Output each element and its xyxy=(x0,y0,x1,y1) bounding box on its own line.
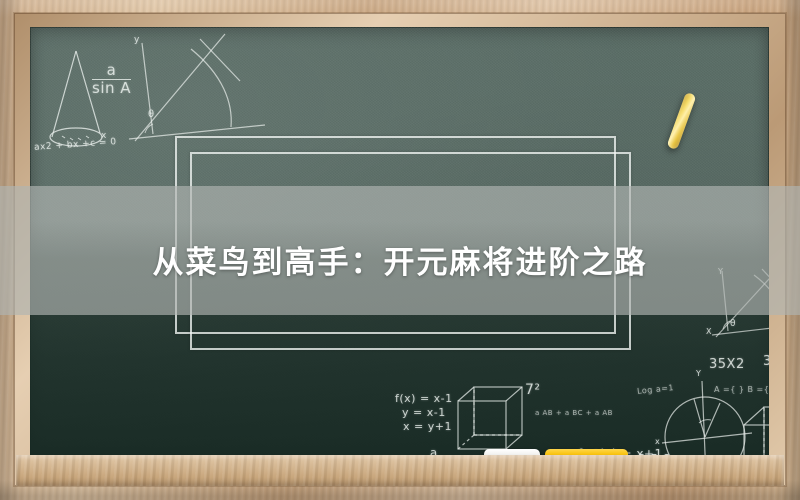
chalk-label-axis-y-lower: Y xyxy=(696,369,701,378)
cube-diagram-left xyxy=(450,379,530,457)
chalk-formula-fx-line3: x = y+1 xyxy=(403,420,452,433)
banner-title: 从菜鸟到高手：开元麻将进阶之路 xyxy=(0,237,800,282)
chalk-ledge xyxy=(16,455,784,486)
chalk-formula-fx-line1: f(x) = x-1 xyxy=(395,392,453,405)
chalk-formula-seven-squared: 7² xyxy=(525,382,541,398)
chalk-label-axis-y-top: y xyxy=(134,35,140,45)
chalk-formula-fx-line2: y = x-1 xyxy=(402,406,446,419)
chalk-label-axis-x-top: x xyxy=(101,131,107,141)
blackboard-banner: a sin A ax2 + bx +c = 0 y x θ f(x) = x-1… xyxy=(0,0,800,500)
chalk-label-cube-sum: a AB + a BC + a AB xyxy=(535,409,613,417)
cube-diagram-right xyxy=(738,399,769,457)
chalk-label-angle-theta-right: θ xyxy=(730,319,736,329)
chalk-label-axis-x-right: X xyxy=(706,327,712,336)
chalk-label-angle-theta-top: θ xyxy=(148,109,155,120)
chalk-label-axis-x-lower: x xyxy=(655,437,660,446)
